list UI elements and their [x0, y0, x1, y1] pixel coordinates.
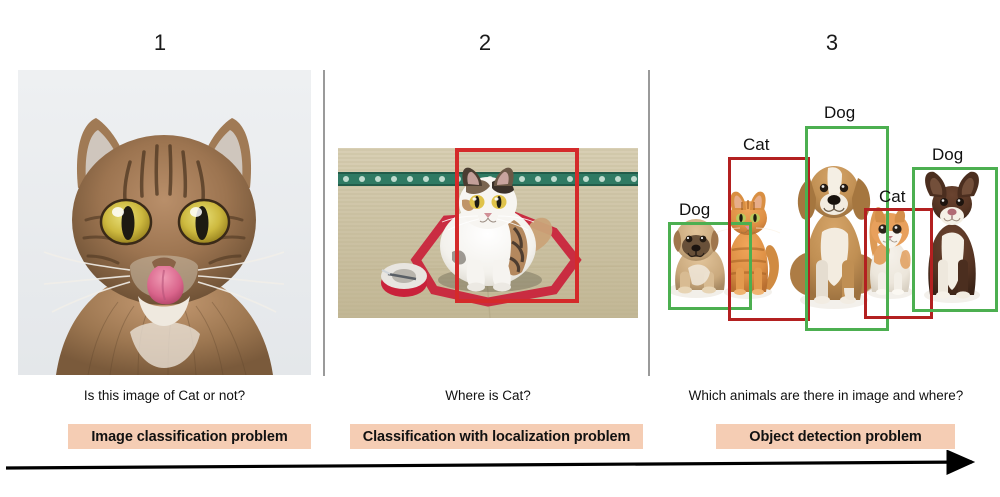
panel-1-image [18, 70, 311, 375]
panel-1-caption: Is this image of Cat or not? [18, 389, 311, 404]
detection-label-dog-1: Dog [679, 201, 710, 218]
problem-label-localization: Classification with localization problem [350, 424, 643, 449]
detection-bbox-cat-1 [728, 157, 810, 321]
panel-number-2: 2 [455, 32, 515, 54]
detection-bbox-dog-3 [912, 167, 998, 312]
detection-label-dog-3: Dog [932, 146, 963, 163]
detection-label-cat-2: Cat [879, 188, 905, 205]
figure-root: 1 2 3 [0, 0, 1000, 497]
localization-bbox [455, 148, 579, 303]
progression-arrow [0, 450, 1000, 490]
detection-label-cat-1: Cat [743, 136, 769, 153]
panel-divider-1 [323, 70, 325, 376]
problem-label-detection: Object detection problem [716, 424, 955, 449]
detection-label-dog-2: Dog [824, 104, 855, 121]
panel-2-caption: Where is Cat? [338, 389, 638, 404]
panel-divider-2 [648, 70, 650, 376]
panel-number-3: 3 [802, 32, 862, 54]
panel-3-caption: Which animals are there in image and whe… [652, 389, 1000, 404]
panel-number-1: 1 [130, 32, 190, 54]
problem-label-classification: Image classification problem [68, 424, 311, 449]
